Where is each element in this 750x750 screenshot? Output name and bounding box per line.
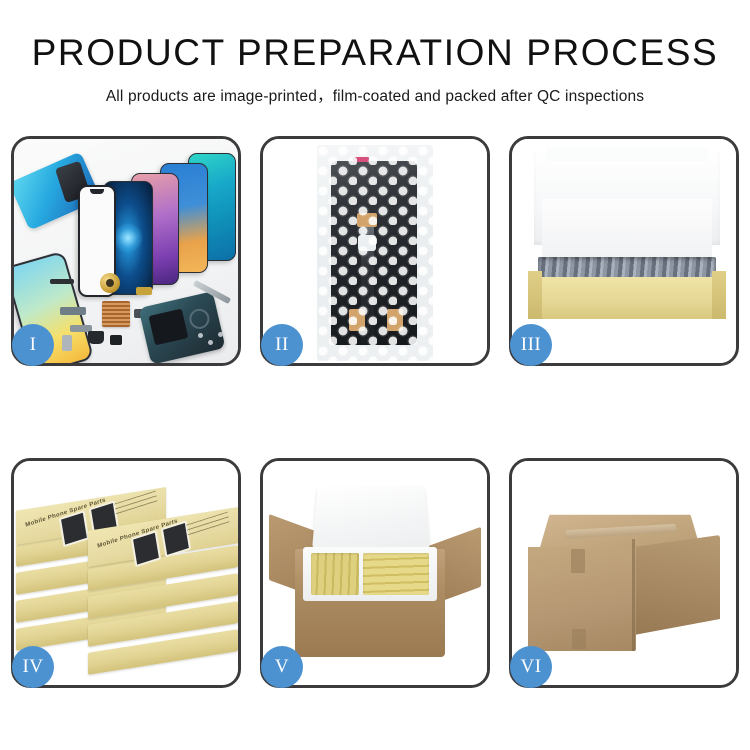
sim-tray-part-icon [62,335,72,351]
yellow-boxes-group-right [363,553,429,595]
step-badge-6: VI [510,646,552,688]
packing-tape-strip [565,524,678,539]
copper-grid-part-icon [102,301,130,327]
box-lid-spec-lines-right [186,511,230,538]
page-title: PRODUCT PREPARATION PROCESS [0,34,750,73]
sealed-carton [526,487,722,659]
bubble-wrap-bag [317,145,433,361]
styrofoam-lid [312,486,430,550]
page-header: PRODUCT PREPARATION PROCESS All products… [0,0,750,106]
product-preparation-process-page: PRODUCT PREPARATION PROCESS All products… [0,0,750,750]
step-badge-2: II [261,324,303,366]
process-step-panel-3[interactable]: III [509,136,739,366]
kraft-tray-box [528,257,726,319]
process-step-panel-6[interactable]: VI [509,458,739,688]
chip-part-icon [110,335,122,345]
page-subtitle: All products are image-printed，film-coat… [0,84,750,106]
step-badge-1: I [12,324,54,366]
phone-display-fan [76,151,238,291]
step-badge-3: III [510,324,552,366]
tray-left-lip [528,271,542,319]
bubble-texture [317,145,433,361]
process-steps-grid: I II [11,136,739,688]
carton-side-face [634,535,720,635]
process-step-panel-5[interactable]: V [260,458,490,688]
screws-icon [198,331,228,347]
step-badge-5: V [261,646,303,688]
process-step-panel-1[interactable]: I [11,136,241,366]
earpiece-part-icon [50,279,74,284]
flex-cable-part-icon [60,307,86,315]
step-badge-4: IV [12,646,54,688]
camera-module-part-icon [136,287,152,295]
taptic-part-icon [88,331,104,344]
carton-corner-edge [632,539,635,651]
tray-front-face [528,277,726,319]
carton-seam-bottom [572,629,586,649]
vibration-coil-part-icon [100,273,120,293]
carton-seam-top [571,549,585,573]
process-step-panel-4[interactable]: Mobile Phone Spare Parts Mobile Phone Sp… [11,458,241,688]
box-lid-spec-lines-left [114,491,158,517]
phone-chassis-icon [138,291,225,363]
tray-right-lip [712,271,726,319]
white-foam-sheet [542,199,712,265]
styrofoam-tray [303,547,437,601]
yellow-boxes-group-left [311,553,359,595]
process-step-panel-2[interactable]: II [260,136,490,366]
